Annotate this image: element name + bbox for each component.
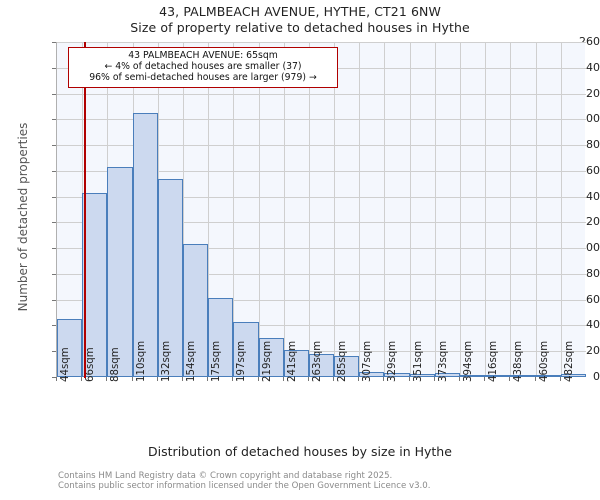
annotation-line-1: 43 PALMBEACH AVENUE: 65sqm (72, 50, 334, 61)
x-tick-mark (509, 377, 510, 381)
x-tick-mark (383, 377, 384, 381)
x-tick-mark (560, 377, 561, 381)
x-tick-label: 285sqm (337, 341, 348, 382)
plot-area (56, 42, 585, 377)
x-tick-mark (308, 377, 309, 381)
x-tick-mark (232, 377, 233, 381)
footer-line-1: Contains HM Land Registry data © Crown c… (58, 471, 578, 481)
x-tick-label: 197sqm (236, 341, 247, 382)
histogram-bar (133, 113, 158, 377)
x-tick-mark (182, 377, 183, 381)
x-tick-label: 132sqm (161, 341, 172, 382)
x-tick-label: 154sqm (186, 341, 197, 382)
x-tick-mark (484, 377, 485, 381)
x-tick-label: 88sqm (110, 347, 121, 382)
property-annotation-box: 43 PALMBEACH AVENUE: 65sqm ← 4% of detac… (68, 47, 338, 88)
x-tick-label: 460sqm (539, 341, 550, 382)
chart-subtitle-line2: Size of property relative to detached ho… (0, 20, 600, 35)
footer-line-2: Contains public sector information licen… (58, 481, 578, 491)
annotation-line-3: 96% of semi-detached houses are larger (… (72, 72, 334, 83)
x-tick-label: 416sqm (488, 341, 499, 382)
x-tick-label: 438sqm (513, 341, 524, 382)
x-tick-label: 394sqm (463, 341, 474, 382)
x-tick-label: 44sqm (60, 347, 71, 382)
x-tick-label: 482sqm (564, 341, 575, 382)
x-tick-mark (333, 377, 334, 381)
x-tick-mark (434, 377, 435, 381)
x-tick-label: 219sqm (262, 341, 273, 382)
x-tick-label: 329sqm (387, 341, 398, 382)
x-tick-label: 373sqm (438, 341, 449, 382)
x-tick-label: 263sqm (312, 341, 323, 382)
x-tick-mark (258, 377, 259, 381)
chart-page: 43, PALMBEACH AVENUE, HYTHE, CT21 6NW Si… (0, 0, 600, 500)
x-tick-mark (535, 377, 536, 381)
x-tick-label: 66sqm (85, 347, 96, 382)
x-axis-title: Distribution of detached houses by size … (0, 444, 600, 459)
histogram-bars (57, 42, 586, 377)
x-tick-label: 241sqm (287, 341, 298, 382)
attribution-footer: Contains HM Land Registry data © Crown c… (58, 471, 578, 492)
x-tick-mark (459, 377, 460, 381)
x-tick-mark (207, 377, 208, 381)
property-marker-line (84, 42, 86, 378)
x-tick-mark (157, 377, 158, 381)
annotation-line-2: ← 4% of detached houses are smaller (37) (72, 61, 334, 72)
x-tick-label: 307sqm (362, 341, 373, 382)
x-tick-mark (106, 377, 107, 381)
x-tick-mark (409, 377, 410, 381)
x-tick-label: 351sqm (413, 341, 424, 382)
x-tick-mark (283, 377, 284, 381)
y-axis-title: Number of detached properties (16, 52, 30, 382)
x-tick-mark (56, 377, 57, 381)
x-tick-label: 175sqm (211, 341, 222, 382)
x-tick-mark (358, 377, 359, 381)
x-tick-label: 110sqm (136, 341, 147, 382)
y-axis-title-wrap: Number of detached properties (10, 60, 26, 360)
histogram-bar (107, 167, 132, 377)
x-tick-mark (81, 377, 82, 381)
chart-title-line1: 43, PALMBEACH AVENUE, HYTHE, CT21 6NW (0, 4, 600, 19)
x-tick-mark (132, 377, 133, 381)
